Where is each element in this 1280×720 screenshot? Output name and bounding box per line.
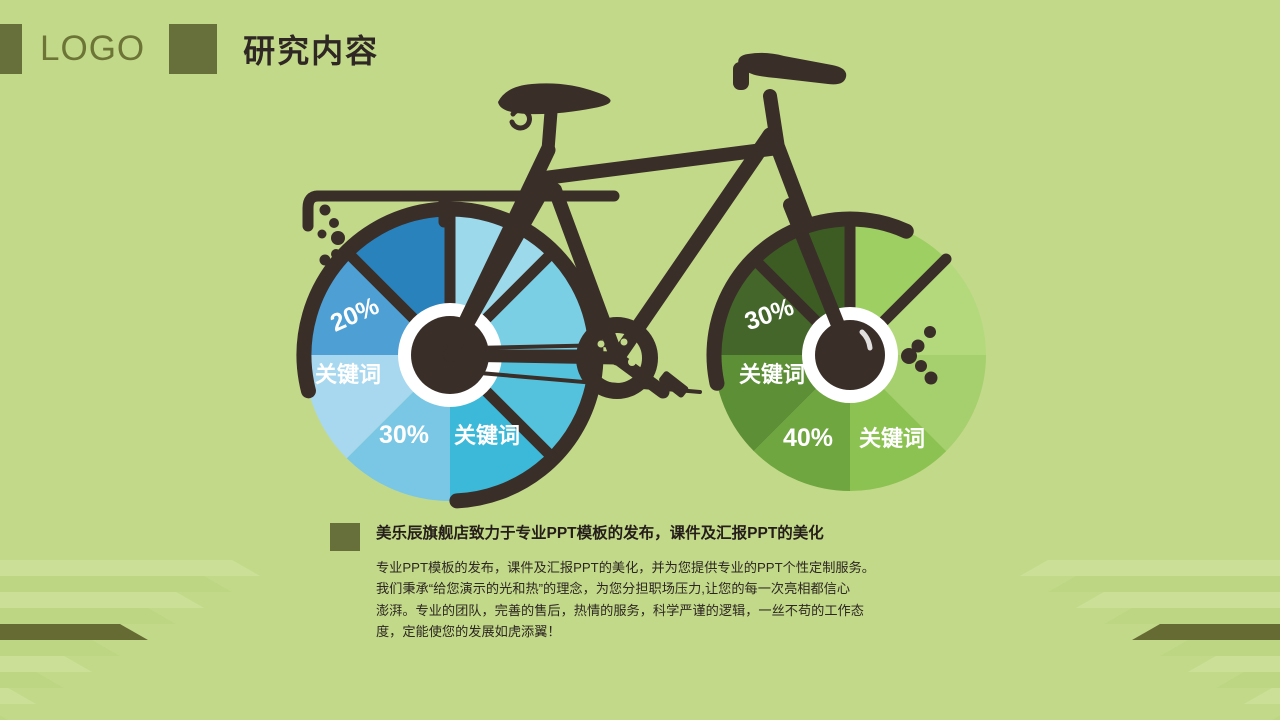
decorative-dot bbox=[925, 372, 938, 385]
caption-head: 美乐辰旗舰店致力于专业PPT模板的发布，课件及汇报PPT的美化 bbox=[330, 522, 970, 551]
chainring-bolt-c bbox=[628, 358, 636, 366]
caption-line: 专业PPT模板的发布，课件及汇报PPT的美化，并为您提供专业的PPT个性定制服务… bbox=[376, 557, 956, 578]
handlebar bbox=[738, 53, 846, 84]
handlebar-stem bbox=[770, 96, 778, 148]
pie-percent-label: 30% bbox=[379, 421, 429, 449]
decorative-dot bbox=[320, 205, 331, 216]
decorative-dot bbox=[331, 231, 345, 245]
caption-line: 我们秉承“给您演示的光和热”的理念，为您分担职场压力,让您的每一次亮相都信心 bbox=[376, 578, 956, 599]
decorative-dot bbox=[901, 348, 917, 364]
brake-lever bbox=[733, 62, 749, 90]
chainring-bolt-a bbox=[598, 341, 605, 348]
caption-title: 美乐辰旗舰店致力于专业PPT模板的发布，课件及汇报PPT的美化 bbox=[376, 522, 824, 546]
decorative-dot bbox=[924, 326, 936, 338]
decorative-dot bbox=[318, 230, 327, 239]
decorative-dot bbox=[331, 249, 341, 259]
chainring-bolt-b bbox=[621, 339, 628, 346]
pie-keyword-label: 关键词 bbox=[859, 426, 925, 451]
pie-keyword-label: 关键词 bbox=[454, 423, 520, 448]
seat-post bbox=[548, 112, 551, 150]
caption-accent-block bbox=[330, 523, 360, 551]
caption-line: 澎湃。专业的团队，完善的售后，热情的服务，科学严谨的逻辑，一丝不苟的工作态 bbox=[376, 600, 956, 621]
pie-keyword-label: 关键词 bbox=[315, 362, 381, 387]
decorative-dot bbox=[329, 218, 339, 228]
pie-percent-label: 40% bbox=[783, 424, 833, 452]
caption-line: 度，定能使您的发展如虎添翼！ bbox=[376, 621, 956, 642]
decorative-dot bbox=[320, 255, 331, 266]
pie-keyword-label: 关键词 bbox=[739, 362, 805, 387]
caption-body: 专业PPT模板的发布，课件及汇报PPT的美化，并为您提供专业的PPT个性定制服务… bbox=[376, 557, 956, 643]
decorative-dot bbox=[915, 360, 927, 372]
caption-block: 美乐辰旗舰店致力于专业PPT模板的发布，课件及汇报PPT的美化 专业PPT模板的… bbox=[330, 522, 970, 643]
slide-canvas: LOGO 研究内容 bbox=[0, 0, 1280, 720]
